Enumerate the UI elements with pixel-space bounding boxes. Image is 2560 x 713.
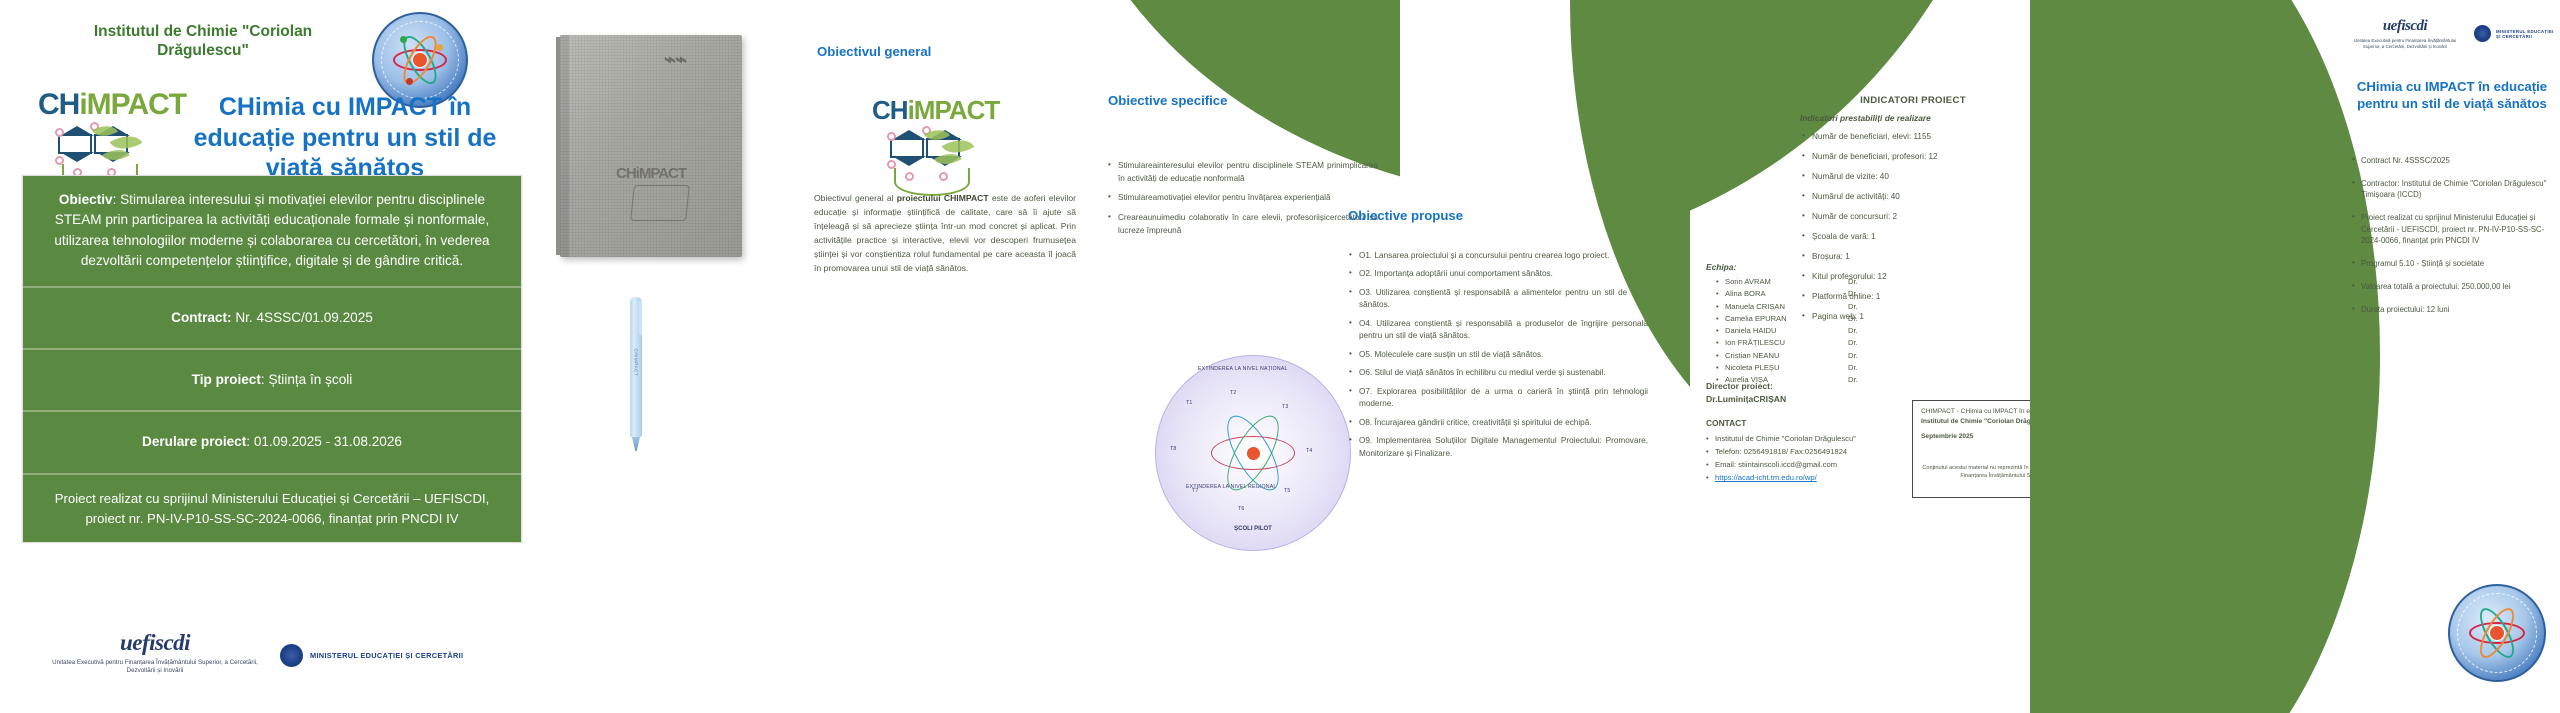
list-item: Număr de concursuri: 2 — [1802, 212, 2022, 221]
team-member: Ion FRĂȚILESCUDr. — [1716, 337, 1866, 349]
diagram-node-4: T4 — [1306, 448, 1312, 454]
diagram-node-7: T7 — [1192, 488, 1198, 494]
list-item: O6. Stilul de viață sănătos în echilibru… — [1348, 367, 1648, 379]
heading-obiective-specifice: Obiective specifice — [1108, 93, 1227, 108]
info-text-derulare: : 01.09.2025 - 31.08.2026 — [246, 434, 402, 449]
seal-dot-1 — [400, 36, 407, 43]
contact-list: Institutul de Chimie "Coriolan Drăgulesc… — [1706, 432, 1936, 484]
list-item: Broșura: 1 — [1802, 252, 2022, 261]
team-member-title: Dr. — [1848, 374, 1866, 386]
notebook-emboss-top: ⌁⌁ — [664, 47, 686, 72]
seal-dot-3 — [406, 78, 413, 85]
uefiscdi-wordmark: uefiscdi — [50, 630, 260, 656]
ministry-label: MINISTERUL EDUCAȚIEI ȘI CERCETĂRII — [310, 651, 463, 660]
contact-item-email: Email: stiintainscoli.iccd@gmail.com — [1706, 458, 1936, 471]
uefiscdi-wordmark-right: uefiscdi — [2350, 18, 2460, 35]
uefiscdi-subtitle-right: Unitatea Executivă pentru Finanțarea Înv… — [2350, 38, 2460, 50]
diagram-outer-label: EXTINDEREA LA NIVEL NAȚIONAL — [1198, 366, 1288, 372]
uefiscdi-logo: uefiscdi Unitatea Executivă pentru Finan… — [50, 630, 260, 676]
contact-item-website[interactable]: https://acad-icht.tm.edu.ro/wp/ — [1706, 471, 1936, 484]
team-member-title: Dr. — [1848, 288, 1866, 300]
notebook-spine — [560, 35, 569, 257]
panel-indicatori: INDICATORI PROIECT Indicatori prestabili… — [1690, 0, 2030, 713]
website-link[interactable]: https://acad-icht.tm.edu.ro/wp/ — [1715, 473, 1817, 482]
diagram-node-3: T3 — [1282, 404, 1288, 410]
team-member-title: Dr. — [1848, 325, 1866, 337]
colophon-box: CHIMPACT - CHimia cu IMPACT în educație … — [1912, 400, 2030, 498]
diagram-node-1: T1 — [1186, 400, 1192, 406]
team-member-title: Dr. — [1848, 313, 1866, 325]
info-label-contract: Contract: — [171, 310, 231, 325]
obiective-propuse-list: O1. Lansarea proiectului și a concursulu… — [1348, 250, 1648, 466]
right-page-title: CHimia cu IMPACT în educație pentru un s… — [2352, 78, 2552, 112]
director-block: Director proiect: Dr.LuminițaCRIȘAN — [1706, 380, 1786, 406]
team-member: Cristian NEANUDr. — [1716, 350, 1866, 362]
team-member-title: Dr. — [1848, 362, 1866, 374]
hex2-dot-1 — [887, 132, 896, 141]
team-member-name: Nicoleta PLEȘU — [1725, 362, 1844, 374]
diagram-nucleus — [1247, 447, 1260, 460]
notebook-emboss-hex — [630, 185, 690, 221]
colophon-disclaimer: Conținutul acestui material nu reprezint… — [1921, 464, 2030, 480]
list-item: O1. Lansarea proiectului și a concursulu… — [1348, 250, 1648, 262]
info-box-group: Obiectiv: Stimularea interesului și moti… — [22, 175, 522, 543]
team-member: Daniela HAIDUDr. — [1716, 325, 1866, 337]
diagram-node-2: T2 — [1230, 390, 1236, 396]
objective-general-body: Obiectivul general al proiectului CHIMPA… — [814, 192, 1076, 276]
list-item: O3. Utilizarea conștientă și responsabil… — [1348, 287, 1648, 312]
ogb-rest: este de aoferi elevilor educație și info… — [814, 193, 1076, 273]
right-details-list: Contract Nr. 4SSSC/2025 Contractor: Inst… — [2352, 155, 2552, 326]
list-item: O9. Implementarea Soluțiilor Digitale Ma… — [1348, 435, 1648, 460]
team-member-title: Dr. — [1848, 350, 1866, 362]
team-label: Echipa: — [1706, 262, 1736, 272]
heading-obiective-propuse: Obiective propuse — [1348, 208, 1463, 223]
team-member: Manuela CRIȘANDr. — [1716, 301, 1866, 313]
pen-image: CHIMPACT — [628, 285, 644, 453]
hex-left — [58, 134, 92, 154]
ministry-logo-right: MINISTERUL EDUCAȚIEI ȘI CERCETĂRII — [2474, 25, 2554, 42]
list-item: Contractor: Institutul de Chimie "Coriol… — [2352, 178, 2552, 201]
panel-cover-left: Institutul de Chimie "Coriolan Drăgulesc… — [0, 0, 540, 713]
info-row-contract: Contract: Nr. 4SSSC/01.09.2025 — [23, 288, 521, 350]
team-member: Camelia EPURANDr. — [1716, 313, 1866, 325]
team-member-name: Sorin AVRAM — [1725, 276, 1844, 288]
team-member-title: Dr. — [1848, 276, 1866, 288]
list-item: Valoarea totală a proiectului: 250.000,0… — [2352, 281, 2552, 293]
ministry-label-right: MINISTERUL EDUCAȚIEI ȘI CERCETĂRII — [2496, 29, 2554, 39]
info-row-tip: Tip proiect: Știința în școli — [23, 350, 521, 412]
contact-item-institute: Institutul de Chimie "Coriolan Drăgulesc… — [1706, 432, 1936, 445]
uefiscdi-subtitle: Unitatea Executivă pentru Finanțarea Înv… — [50, 659, 260, 676]
chimpact-logo-center: CHiMPACT — [862, 95, 1012, 195]
list-item: Număr de beneficiari, profesori: 12 — [1802, 152, 2022, 161]
seal-nucleus — [412, 52, 428, 68]
info-text-tip: : Știința în școli — [261, 372, 352, 387]
team-member: Sorin AVRAMDr. — [1716, 276, 1866, 288]
director-label: Director proiect: — [1706, 380, 1786, 393]
diagram-node-6: T6 — [1238, 506, 1244, 512]
page-title: CHimia cu IMPACT în educație pentru un s… — [175, 92, 515, 184]
colophon-line2: Institutul de Chimie "Coriolan Drăgulesc… — [1921, 417, 2030, 427]
diagram-node-8: T8 — [1170, 446, 1176, 452]
list-item: Școala de vară: 1 — [1802, 232, 2022, 241]
info-row-obiectiv: Obiectiv: Stimularea interesului și moti… — [23, 176, 521, 288]
team-member-name: Cristian NEANU — [1725, 350, 1844, 362]
team-member-name: Manuela CRIȘAN — [1725, 301, 1844, 313]
info-text-obiectiv: : Stimularea interesului și motivației e… — [54, 192, 489, 268]
team-list: Sorin AVRAMDr. Alina BORADr. Manuela CRI… — [1716, 276, 1866, 387]
team-member-name: Ion FRĂȚILESCU — [1725, 337, 1844, 349]
list-item: O5. Moleculele care susțin un stil de vi… — [1348, 349, 1648, 361]
list-item: Numărul de vizite: 40 — [1802, 172, 2022, 181]
heading-obiectivul-general: Obiectivul general — [817, 44, 931, 59]
institute-name: Institutul de Chimie "Coriolan Drăgulesc… — [58, 22, 348, 61]
info-row-derulare: Derulare proiect: 01.09.2025 - 31.08.202… — [23, 412, 521, 474]
info-text-contract: Nr. 4SSSC/01.09.2025 — [232, 310, 373, 325]
logo2-ch-text: CH — [872, 95, 908, 125]
notebook-image: ⌁⌁ CHiMPACT — [560, 35, 742, 257]
green-shape-right — [2030, 0, 2380, 713]
seal-dot-2 — [436, 44, 443, 51]
seal-nucleus-right — [2489, 625, 2505, 641]
colophon-line3: Septembrie 2025 — [1921, 432, 2030, 442]
panel-cover-right: uefiscdi Unitatea Executivă pentru Finan… — [2030, 0, 2560, 713]
list-item: Programul 5.10 - Știință și societate — [2352, 258, 2552, 270]
ogb-lead: Obiectivul general al — [814, 193, 897, 203]
contact-item-phone: Telefon: 0256491818/ Fax:0256491824 — [1706, 445, 1936, 458]
diagram-node-5: T5 — [1284, 488, 1290, 494]
academy-seal-icon-right — [2448, 584, 2546, 682]
info-label-tip: Tip proiect — [192, 372, 261, 387]
ministry-seal-icon — [280, 644, 303, 667]
logo-ch-text: CH — [38, 88, 79, 121]
info-label-obiectiv: Obiectiv — [59, 192, 113, 207]
logo2-impact-text: iMPACT — [908, 95, 1000, 125]
info-label-derulare: Derulare proiect — [142, 434, 246, 449]
team-member-title: Dr. — [1848, 301, 1866, 313]
notebook-emboss-logo: CHiMPACT — [616, 165, 686, 182]
director-name: Dr.LuminițaCRIȘAN — [1706, 393, 1786, 406]
ogb-bold: proiectului CHIMPACT — [897, 193, 989, 203]
diagram-atom-icon — [1209, 409, 1297, 497]
list-item: Proiect realizat cu sprijinul Ministerul… — [2352, 212, 2552, 247]
poster-root: Institutul de Chimie "Coriolan Drăgulesc… — [0, 0, 2560, 713]
list-item: O4. Utilizarea conștientă și responsabil… — [1348, 318, 1648, 343]
team-member: Nicoleta PLEȘUDr. — [1716, 362, 1866, 374]
panel-product-photo: ⌁⌁ CHiMPACT CHIMPACT — [540, 0, 800, 713]
team-member-name: Daniela HAIDU — [1725, 325, 1844, 337]
team-member-name: Camelia EPURAN — [1725, 313, 1844, 325]
colophon-line1: CHIMPACT - CHimia cu IMPACT în educație … — [1921, 407, 2030, 417]
list-item: O2. Importanța adoptării unui comportame… — [1348, 268, 1648, 280]
right-footer-logos: uefiscdi Unitatea Executivă pentru Finan… — [2350, 18, 2554, 50]
diagram-center-label: ȘCOLI PILOT — [1156, 526, 1350, 532]
info-row-funding: Proiect realizat cu sprijinul Ministerul… — [23, 475, 521, 543]
ministry-logo: MINISTERUL EDUCAȚIEI ȘI CERCETĂRII — [280, 644, 463, 667]
list-item: Număr de beneficiari, elevi: 1155 — [1802, 132, 2022, 141]
footer-logos: uefiscdi Unitatea Executivă pentru Finan… — [30, 630, 530, 700]
list-item: Contract Nr. 4SSSC/2025 — [2352, 155, 2552, 167]
panel-objective-general: Obiectivul general CHiMPACT Obiectivul g… — [800, 0, 1090, 713]
list-item: Numărul de activități: 40 — [1802, 192, 2022, 201]
subheading-indicatori: Indicatori prestabiliți de realizare — [1800, 113, 2022, 123]
team-member-title: Dr. — [1848, 337, 1866, 349]
logo-impact-text: iMPACT — [79, 88, 186, 121]
uefiscdi-logo-right: uefiscdi Unitatea Executivă pentru Finan… — [2350, 18, 2460, 50]
hex-dot-1 — [55, 128, 64, 137]
team-member: Alina BORADr. — [1716, 288, 1866, 300]
hex2-left — [890, 138, 924, 158]
heading-indicatori: INDICATORI PROIECT — [1808, 95, 2018, 106]
pen-label: CHIMPACT — [634, 349, 639, 359]
contact-label: CONTACT — [1706, 418, 1746, 428]
network-diagram: EXTINDEREA LA NIVEL NAȚIONAL EXTINDEREA … — [1155, 355, 1351, 551]
team-member-name: Alina BORA — [1725, 288, 1844, 300]
ministry-seal-icon-right — [2474, 25, 2491, 42]
list-item: O7. Explorarea posibilităților de a urma… — [1348, 386, 1648, 411]
pen-tip — [632, 437, 640, 451]
list-item: Durata proiectului: 12 luni — [2352, 304, 2552, 316]
list-item: O8. Încurajarea gândirii critice, creati… — [1348, 417, 1648, 429]
pen-clip — [639, 301, 642, 335]
